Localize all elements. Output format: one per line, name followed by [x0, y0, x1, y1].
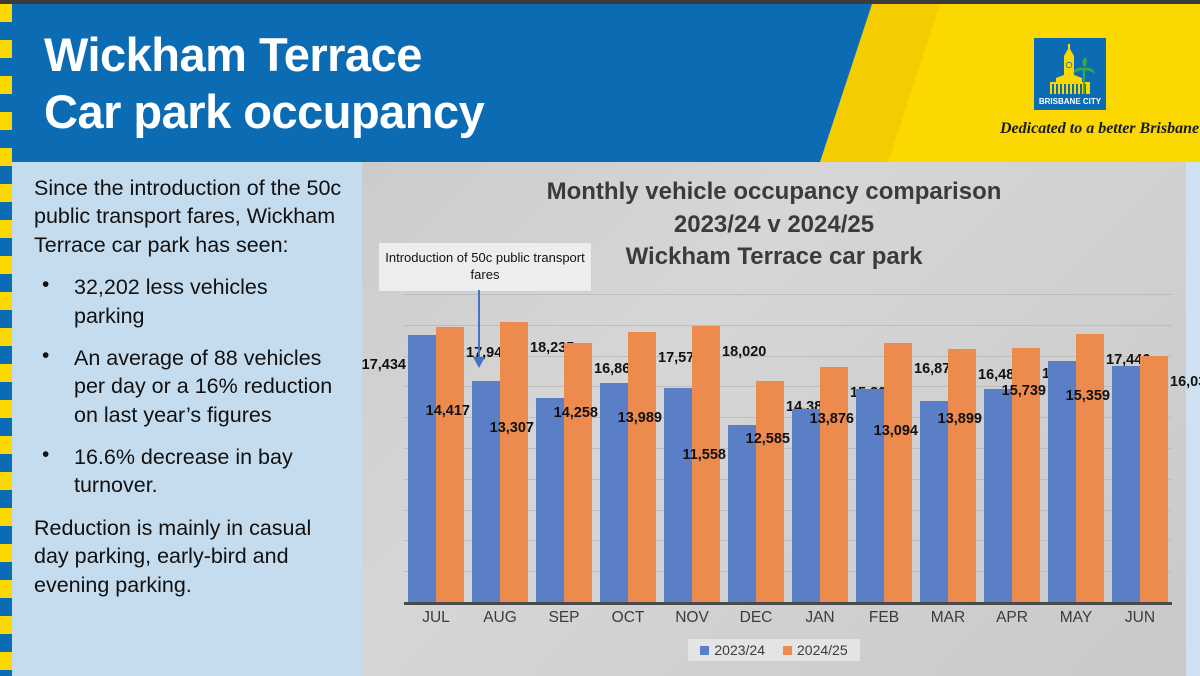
page-title-line1: Wickham Terrace	[44, 26, 484, 83]
bar-group: 15,73917,446	[1044, 295, 1108, 603]
x-axis-label-AUG: AUG	[468, 609, 532, 627]
intro-paragraph: Since the introduction of the 50c public…	[34, 174, 344, 259]
bar-value-label: 14,417	[426, 403, 470, 419]
bar-group: 13,30716,862	[532, 295, 596, 603]
bar-2024-25-JUN[interactable]: 16,031	[1140, 356, 1168, 603]
bar-value-label: 15,739	[1002, 383, 1046, 399]
slide: Wickham Terrace Car park occupancy	[0, 0, 1200, 676]
bar-2023-24-AUG[interactable]: 14,417	[472, 381, 500, 603]
closing-paragraph: Reduction is mainly in casual day parkin…	[34, 514, 344, 599]
bar-value-label: 14,258	[554, 405, 598, 421]
brisbane-city-logo: BRISBANE CITY Dedicated to a better Bris…	[1000, 38, 1140, 138]
list-item: • An average of 88 vehicles per day or a…	[34, 344, 344, 429]
bar-value-label: 13,876	[810, 411, 854, 427]
bar-group: 13,89916,545	[980, 295, 1044, 603]
annotation-arrow-icon	[478, 290, 480, 358]
bar-2023-24-JAN[interactable]: 12,585	[792, 409, 820, 603]
bar-group: 17,43417,949	[404, 295, 468, 603]
top-strip	[0, 0, 1200, 4]
bar-2024-25-MAR[interactable]: 16,486	[948, 349, 976, 603]
bar-value-label: 13,989	[618, 410, 662, 426]
bar-2023-24-FEB[interactable]: 13,876	[856, 389, 884, 603]
x-axis-label-APR: APR	[980, 609, 1044, 627]
list-item-text: An average of 88 vehicles per day or a 1…	[74, 346, 332, 427]
bar-2023-24-SEP[interactable]: 13,307	[536, 398, 564, 603]
bar-group: 15,35916,031	[1108, 295, 1172, 603]
x-axis-label-JAN: JAN	[788, 609, 852, 627]
x-axis-label-MAY: MAY	[1044, 609, 1108, 627]
bar-2024-25-NOV[interactable]: 18,020	[692, 326, 720, 604]
bullet-glyph: •	[42, 342, 49, 370]
city-hall-svg: BRISBANE CITY	[1034, 38, 1106, 110]
x-axis-label-SEP: SEP	[532, 609, 596, 627]
bar-2024-25-SEP[interactable]: 16,862	[564, 343, 592, 603]
legend-item-2023-24[interactable]: 2023/24	[700, 642, 765, 658]
left-checker-stripe	[0, 4, 12, 676]
bar-2023-24-APR[interactable]: 13,899	[984, 389, 1012, 603]
plot-area: 17,43417,94914,41718,23513,30716,86214,2…	[404, 295, 1172, 603]
bullet-list: • 32,202 less vehicles parking • An aver…	[34, 273, 344, 500]
bar-group: 13,09416,486	[916, 295, 980, 603]
slide-header: Wickham Terrace Car park occupancy	[0, 4, 1200, 162]
list-item: • 16.6% decrease in bay turnover.	[34, 443, 344, 500]
legend-swatch	[783, 646, 792, 655]
x-axis-label-NOV: NOV	[660, 609, 724, 627]
bullet-glyph: •	[42, 271, 49, 299]
bar-value-label: 17,434	[362, 357, 406, 373]
annotation-callout: Introduction of 50c public transport far…	[378, 242, 592, 292]
axis-baseline	[404, 602, 1172, 605]
x-axis-label-OCT: OCT	[596, 609, 660, 627]
bar-2023-24-JUL[interactable]: 17,434	[408, 335, 436, 603]
bar-value-label: 12,585	[746, 431, 790, 447]
bar-value-label: 13,094	[874, 423, 918, 439]
chart-title-line1: Monthly vehicle occupancy comparison	[362, 176, 1186, 209]
bar-2024-25-AUG[interactable]: 18,235	[500, 322, 528, 603]
bar-2024-25-DEC[interactable]: 14,386	[756, 381, 784, 603]
bar-2024-25-MAY[interactable]: 17,446	[1076, 334, 1104, 603]
legend-swatch	[700, 646, 709, 655]
bar-value-label: 15,359	[1066, 388, 1110, 404]
page-title: Wickham Terrace Car park occupancy	[44, 26, 484, 141]
bar-2024-25-JAN[interactable]: 15,303	[820, 367, 848, 603]
bullet-glyph: •	[42, 441, 49, 469]
bar-2024-25-FEB[interactable]: 16,879	[884, 343, 912, 603]
bar-2024-25-JUL[interactable]: 17,949	[436, 327, 464, 603]
bar-value-label: 13,307	[490, 420, 534, 436]
logo-tagline: Dedicated to a better Brisbane	[1000, 120, 1140, 138]
bar-group: 11,55814,386	[724, 295, 788, 603]
page-title-line2: Car park occupancy	[44, 83, 484, 140]
city-hall-icon: BRISBANE CITY	[1034, 38, 1106, 110]
bar-group: 13,87616,879	[852, 295, 916, 603]
bar-2023-24-MAR[interactable]: 13,094	[920, 401, 948, 603]
bar-2024-25-OCT[interactable]: 17,575	[628, 332, 656, 603]
list-item: • 32,202 less vehicles parking	[34, 273, 344, 330]
bar-value-label: 11,558	[682, 447, 726, 463]
x-axis-label-MAR: MAR	[916, 609, 980, 627]
bar-2023-24-NOV[interactable]: 13,989	[664, 388, 692, 603]
bar-group: 12,58515,303	[788, 295, 852, 603]
bar-value-label: 13,899	[938, 411, 982, 427]
legend-label: 2024/25	[797, 642, 848, 658]
chart-legend: 2023/242024/25	[362, 639, 1186, 661]
bar-2023-24-DEC[interactable]: 11,558	[728, 425, 756, 603]
svg-text:BRISBANE CITY: BRISBANE CITY	[1039, 97, 1102, 106]
x-axis-label-DEC: DEC	[724, 609, 788, 627]
x-axis-labels: JULAUGSEPOCTNOVDECJANFEBMARAPRMAYJUN	[404, 609, 1172, 627]
bar-2023-24-JUN[interactable]: 15,359	[1112, 366, 1140, 603]
x-axis-label-JUN: JUN	[1108, 609, 1172, 627]
legend-label: 2023/24	[714, 642, 765, 658]
bar-groups: 17,43417,94914,41718,23513,30716,86214,2…	[404, 295, 1172, 603]
left-text-panel: Since the introduction of the 50c public…	[12, 162, 362, 676]
legend-item-2024-25[interactable]: 2024/25	[783, 642, 848, 658]
chart-title-line2: 2023/24 v 2024/25	[362, 209, 1186, 242]
list-item-text: 16.6% decrease in bay turnover.	[74, 445, 293, 497]
bar-group: 14,25817,575	[596, 295, 660, 603]
bar-value-label: 16,031	[1170, 374, 1200, 390]
chart-panel: Monthly vehicle occupancy comparison 202…	[362, 162, 1186, 676]
list-item-text: 32,202 less vehicles parking	[74, 275, 268, 327]
x-axis-label-FEB: FEB	[852, 609, 916, 627]
x-axis-label-JUL: JUL	[404, 609, 468, 627]
